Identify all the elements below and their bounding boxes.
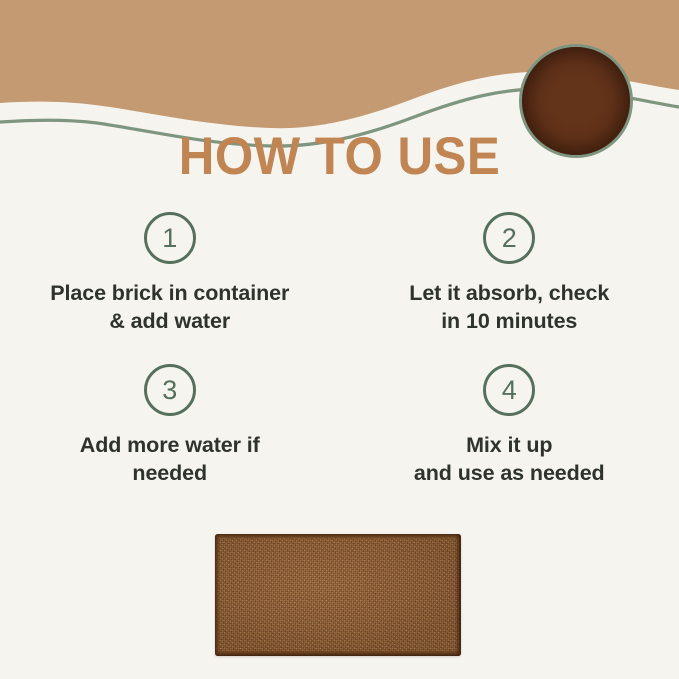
- brick-edge-top: [215, 534, 461, 539]
- step-number-badge: 4: [483, 364, 535, 416]
- brick-edge-right: [455, 534, 461, 656]
- step-number-badge: 2: [483, 212, 535, 264]
- steps-grid: 1 Place brick in container & add water 2…: [0, 212, 679, 516]
- how-to-use-infographic: HOW TO USE 1 Place brick in container & …: [0, 0, 679, 679]
- step-description: Place brick in container & add water: [50, 280, 289, 335]
- brick-edge-left: [215, 534, 220, 656]
- step-item-4: 4 Mix it up and use as needed: [340, 364, 679, 516]
- step-description: Let it absorb, check in 10 minutes: [409, 280, 609, 335]
- step-item-1: 1 Place brick in container & add water: [0, 212, 340, 364]
- brick-texture: [215, 534, 461, 656]
- step-description: Add more water if needed: [80, 432, 260, 487]
- brick-edge-bottom: [215, 650, 461, 656]
- coir-brick-image: [215, 534, 461, 656]
- step-item-2: 2 Let it absorb, check in 10 minutes: [340, 212, 679, 364]
- step-item-3: 3 Add more water if needed: [0, 364, 340, 516]
- step-number-badge: 3: [144, 364, 196, 416]
- step-number-badge: 1: [144, 212, 196, 264]
- page-title: HOW TO USE: [24, 130, 655, 183]
- step-description: Mix it up and use as needed: [414, 432, 605, 487]
